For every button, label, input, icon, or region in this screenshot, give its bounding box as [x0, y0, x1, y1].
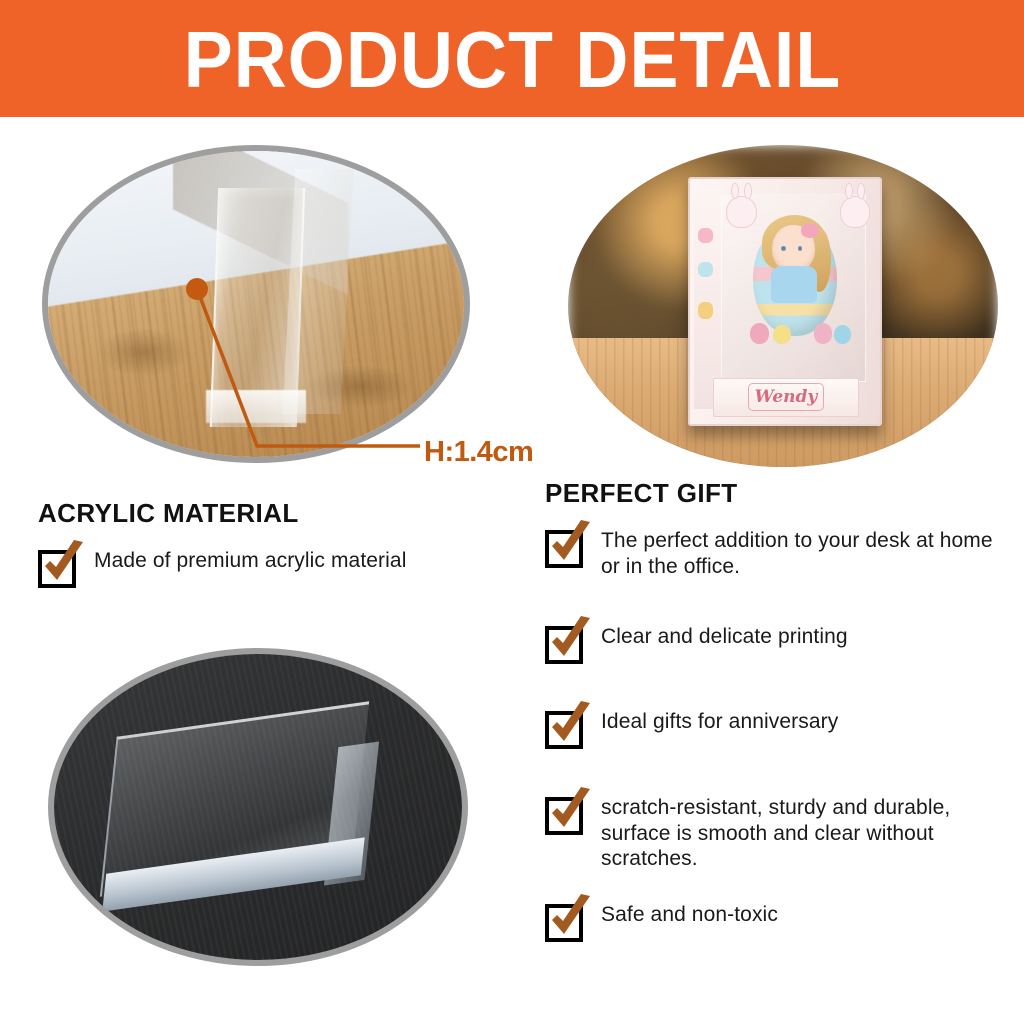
checkbox-checked — [38, 550, 76, 588]
mini-egg-icon — [814, 323, 833, 343]
product-detail-infographic: PRODUCT DETAIL — [0, 0, 1024, 1024]
list-item-label: Made of premium acrylic material — [94, 548, 406, 574]
list-item: Made of premium acrylic material — [38, 548, 518, 588]
checkbox-checked — [545, 904, 583, 942]
cloud-sticker-icon — [698, 262, 713, 277]
doll-eye-icon — [799, 247, 802, 250]
bunny-corner-icon — [840, 196, 870, 228]
checkmark-icon — [544, 787, 596, 839]
checkmark-icon — [37, 540, 89, 592]
list-item: Clear and delicate printing — [545, 624, 995, 664]
list-item: The perfect addition to your desk at hom… — [545, 528, 995, 579]
box-printed-side-panel — [694, 189, 720, 409]
checkmark-icon — [544, 520, 596, 572]
list-item-label: scratch-resistant, sturdy and durable, s… — [601, 795, 1000, 872]
list-item: scratch-resistant, sturdy and durable, s… — [545, 795, 1000, 872]
product-display-box: Wendy — [688, 177, 881, 426]
nameplate-border: Wendy — [748, 383, 825, 411]
box-nameplate: Wendy — [713, 378, 859, 417]
page-title: PRODUCT DETAIL — [183, 20, 841, 100]
checkmark-icon — [544, 701, 596, 753]
bunny-corner-icon — [726, 196, 756, 228]
doll-hair-bow — [801, 223, 820, 238]
checkbox-checked — [545, 626, 583, 664]
personalized-name: Wendy — [755, 389, 818, 406]
callout-leader-line — [0, 140, 560, 480]
flower-sticker-icon — [698, 228, 713, 243]
list-item-label: Safe and non-toxic — [601, 902, 778, 928]
dimension-label: H:1.4cm — [424, 436, 533, 469]
section-heading-acrylic-material: ACRYLIC MATERIAL — [38, 498, 299, 529]
checkmark-icon — [544, 616, 596, 668]
tulip-sticker-icon — [698, 302, 713, 319]
list-item-label: The perfect addition to your desk at hom… — [601, 528, 995, 579]
checkbox-checked — [545, 797, 583, 835]
checkmark-icon — [544, 894, 596, 946]
list-item: Ideal gifts for anniversary — [545, 709, 995, 749]
mini-egg-icon — [773, 325, 790, 344]
header-banner: PRODUCT DETAIL — [0, 0, 1024, 117]
checkbox-checked — [545, 530, 583, 568]
section-heading-perfect-gift: PERFECT GIFT — [545, 478, 738, 509]
doll-body-shirt — [771, 266, 817, 303]
checkbox-checked — [545, 711, 583, 749]
photo-product-box-on-table: Wendy — [568, 145, 998, 467]
list-item-label: Clear and delicate printing — [601, 624, 848, 650]
doll-eye-icon — [782, 247, 785, 250]
callout-anchor-dot — [186, 278, 208, 300]
list-item: Safe and non-toxic — [545, 902, 995, 942]
mini-egg-icon — [750, 323, 769, 343]
mini-egg-icon — [834, 325, 851, 344]
list-item-label: Ideal gifts for anniversary — [601, 709, 838, 735]
photo-acrylic-block-on-slate — [48, 648, 468, 966]
